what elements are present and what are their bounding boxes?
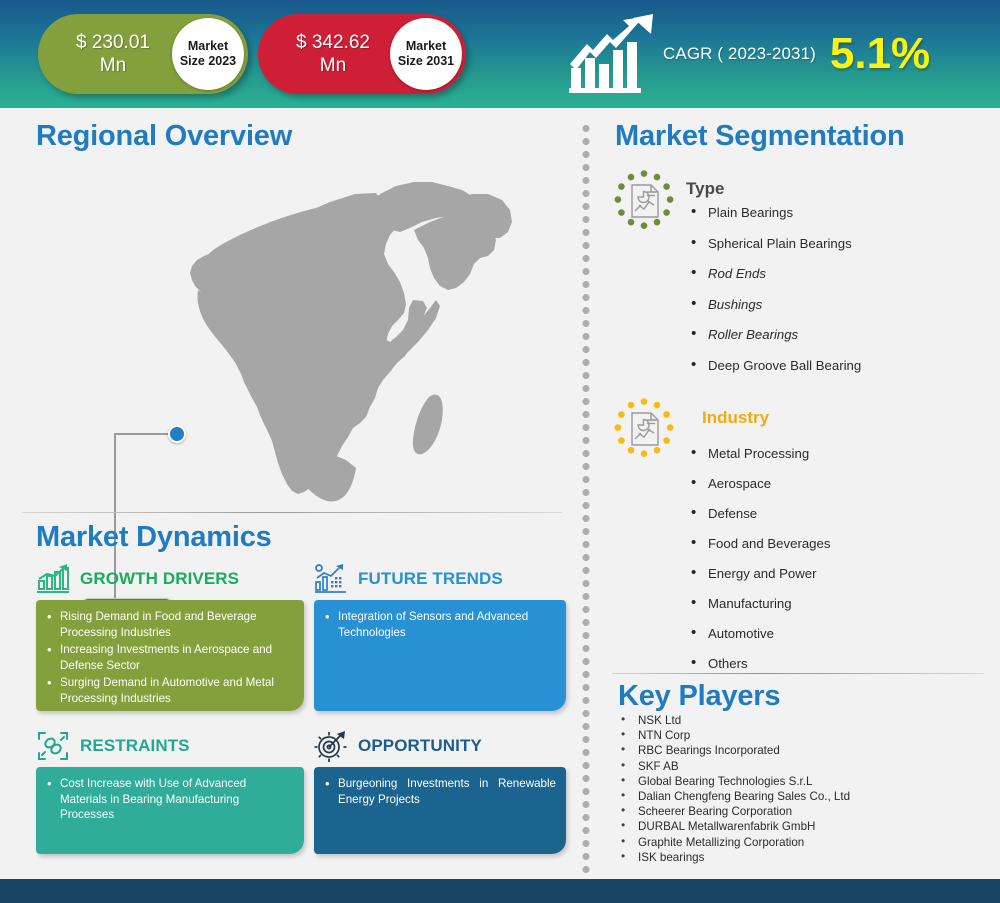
list-item: Bushings — [686, 297, 861, 312]
market-size-2031-pill: $ 342.62 Mn Market Size 2031 — [258, 14, 466, 94]
list-item: NTN Corp — [612, 728, 850, 743]
market-size-2023-amount: $ 230.01 — [42, 31, 184, 54]
badge-line-1: Market — [406, 39, 446, 54]
list-item: NSK Ltd — [612, 713, 850, 728]
market-size-2023-value: $ 230.01 Mn — [42, 31, 184, 77]
dynamics-content-box: Rising Demand in Food and Beverage Proce… — [36, 600, 304, 711]
list-item: Aerospace — [686, 476, 830, 491]
dynamics-header: FUTURE TRENDS — [314, 562, 566, 596]
dynamics-content-box: Burgeoning Investments in Renewable Ener… — [314, 767, 566, 854]
list-item: ISK bearings — [612, 850, 850, 865]
map-section-divider — [22, 512, 562, 513]
list-item: Rising Demand in Food and Beverage Proce… — [44, 609, 294, 640]
cagr-label: CAGR ( 2023-2031) — [663, 44, 816, 64]
cagr-group: CAGR ( 2023-2031) 5.1% — [565, 8, 930, 100]
dynamics-content-box: Cost Increase with Use of Advanced Mater… — [36, 767, 304, 854]
segmentation-industry-list: Metal Processing Aerospace Defense Food … — [686, 446, 830, 686]
list-item: Graphite Metallizing Corporation — [612, 835, 850, 850]
gear-target-icon — [314, 730, 348, 762]
list-item: Roller Bearings — [686, 327, 861, 342]
dynamics-block-growth-drivers: GROWTH DRIVERS Rising Demand in Food and… — [36, 562, 304, 711]
list-item: Integration of Sensors and Advanced Tech… — [322, 609, 556, 640]
map-marker-dot — [168, 425, 186, 443]
dynamics-list: Cost Increase with Use of Advanced Mater… — [44, 776, 294, 823]
dynamics-label: GROWTH DRIVERS — [80, 569, 239, 589]
dynamics-header: OPPORTUNITY — [314, 729, 566, 763]
list-item: Plain Bearings — [686, 205, 861, 220]
list-item: Automotive — [686, 626, 830, 641]
list-item: Manufacturing — [686, 596, 830, 611]
list-item: Food and Beverages — [686, 536, 830, 551]
dynamics-list: Rising Demand in Food and Beverage Proce… — [44, 609, 294, 707]
list-item: Global Bearing Technologies S.r.L — [612, 774, 850, 789]
header-banner: $ 230.01 Mn Market Size 2023 $ 342.62 Mn… — [0, 0, 1000, 108]
market-segmentation-title: Market Segmentation — [615, 120, 905, 153]
regional-map: MIDDLE EAST & AFRICA 5.1% — [20, 160, 565, 510]
list-item: Rod Ends — [686, 266, 861, 281]
list-item: Surging Demand in Automotive and Metal P… — [44, 675, 294, 706]
trend-chart-icon — [314, 563, 348, 595]
badge-line-1: Market — [188, 39, 228, 54]
dynamics-header: GROWTH DRIVERS — [36, 562, 304, 596]
segmentation-section-divider — [612, 673, 984, 674]
dynamics-label: OPPORTUNITY — [358, 736, 482, 756]
regional-overview-title: Regional Overview — [36, 120, 292, 153]
market-size-2031-unit: Mn — [262, 54, 404, 77]
market-size-2031-value: $ 342.62 Mn — [262, 31, 404, 77]
market-size-2023-unit: Mn — [42, 54, 184, 77]
list-item: Energy and Power — [686, 566, 830, 581]
dynamics-block-restraints: RESTRAINTS Cost Increase with Use of Adv… — [36, 729, 304, 854]
dynamics-content-box: Integration of Sensors and Advanced Tech… — [314, 600, 566, 711]
list-item: Defense — [686, 506, 830, 521]
list-item: Burgeoning Investments in Renewable Ener… — [322, 776, 556, 807]
list-item: Metal Processing — [686, 446, 830, 461]
key-players-list: NSK Ltd NTN Corp RBC Bearings Incorporat… — [612, 713, 850, 865]
market-size-2023-badge: Market Size 2023 — [172, 18, 244, 90]
cagr-value: 5.1% — [830, 32, 930, 76]
list-item: Cost Increase with Use of Advanced Mater… — [44, 776, 294, 823]
badge-line-2: Size 2023 — [180, 54, 236, 69]
dynamics-block-future-trends: FUTURE TRENDS Integration of Sensors and… — [314, 562, 566, 711]
dynamics-list: Burgeoning Investments in Renewable Ener… — [322, 776, 556, 807]
dynamics-header: RESTRAINTS — [36, 729, 304, 763]
badge-line-2: Size 2031 — [398, 54, 454, 69]
key-players-title: Key Players — [618, 680, 780, 713]
list-item: Dalian Chengfeng Bearing Sales Co., Ltd — [612, 789, 850, 804]
report-document-icon-type — [613, 170, 675, 232]
list-item: Others — [686, 656, 830, 671]
market-size-2031-amount: $ 342.62 — [262, 31, 404, 54]
list-item: Deep Groove Ball Bearing — [686, 358, 861, 373]
dynamics-label: FUTURE TRENDS — [358, 569, 503, 589]
growth-chart-icon — [36, 563, 70, 595]
chain-link-icon — [36, 730, 70, 762]
list-item: SKF AB — [612, 759, 850, 774]
market-dynamics-title: Market Dynamics — [36, 521, 272, 554]
report-document-icon-industry — [613, 398, 675, 460]
segmentation-group-label-industry: Industry — [702, 408, 769, 428]
list-item: RBC Bearings Incorporated — [612, 743, 850, 758]
segmentation-group-label-type: Type — [686, 179, 724, 199]
dynamics-block-opportunity: OPPORTUNITY Burgeoning Investments in Re… — [314, 729, 566, 854]
list-item: DURBAL Metallwarenfabrik GmbH — [612, 819, 850, 834]
dynamics-label: RESTRAINTS — [80, 736, 190, 756]
list-item: Spherical Plain Bearings — [686, 236, 861, 251]
list-item: Increasing Investments in Aerospace and … — [44, 642, 294, 673]
market-size-2023-pill: $ 230.01 Mn Market Size 2023 — [38, 14, 248, 94]
market-size-2031-badge: Market Size 2031 — [390, 18, 462, 90]
list-item: Scheerer Bearing Corporation — [612, 804, 850, 819]
dynamics-list: Integration of Sensors and Advanced Tech… — [322, 609, 556, 640]
column-divider-dotted — [582, 122, 590, 877]
growth-arrow-bar-chart-icon — [565, 14, 657, 94]
callout-leader-line-horizontal — [114, 433, 172, 435]
segmentation-type-list: Plain Bearings Spherical Plain Bearings … — [686, 205, 861, 388]
footer-bar — [0, 879, 1000, 903]
africa-middle-east-map-icon — [180, 160, 580, 510]
